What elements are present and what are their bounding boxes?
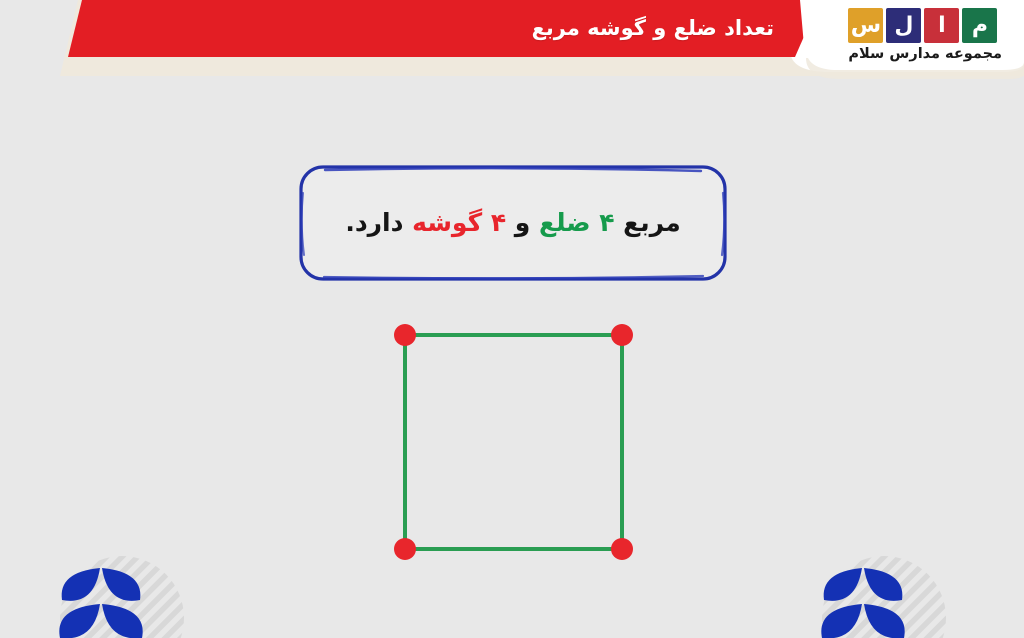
statement-text-wrapper: مربع ۴ ضلع و ۴ گوشه دارد. [297, 163, 729, 283]
logo-letter-squares: م ا ل س [848, 8, 1002, 43]
vertex-top-left [394, 324, 416, 346]
logo-square-sin: س [848, 8, 883, 43]
statement-segment-sides: ۴ ضلع [539, 208, 614, 237]
statement-callout-box: مربع ۴ ضلع و ۴ گوشه دارد. [297, 163, 729, 283]
logo-square-alef: ا [924, 8, 959, 43]
statement-segment-4: دارد. [345, 208, 412, 237]
logo-square-mim: م [962, 8, 997, 43]
square-vertices [394, 324, 633, 560]
leaf-ornament-right [800, 528, 960, 638]
logo-subtitle: مجموعه مدارس سلام [848, 46, 1002, 62]
statement-segment-2: و [506, 208, 539, 237]
statement-segment-0: مربع [614, 208, 680, 237]
square-diagram [380, 310, 648, 576]
slide-canvas: تعداد ضلع و گوشه مربع م ا ل س مجموعه مدا… [0, 0, 1024, 638]
leaf-ornament-left [38, 528, 198, 638]
logo-square-lam: ل [886, 8, 921, 43]
statement-segment-corners: ۴ گوشه [412, 208, 506, 237]
brand-logo[interactable]: م ا ل س مجموعه مدارس سلام [848, 8, 1002, 62]
vertex-top-right [611, 324, 633, 346]
square-edges [405, 335, 622, 549]
vertex-bottom-right [611, 538, 633, 560]
header-banner: تعداد ضلع و گوشه مربع م ا ل س مجموعه مدا… [0, 0, 1024, 80]
statement-text: مربع ۴ ضلع و ۴ گوشه دارد. [345, 203, 680, 243]
page-title: تعداد ضلع و گوشه مربع [254, 13, 774, 43]
vertex-bottom-left [394, 538, 416, 560]
